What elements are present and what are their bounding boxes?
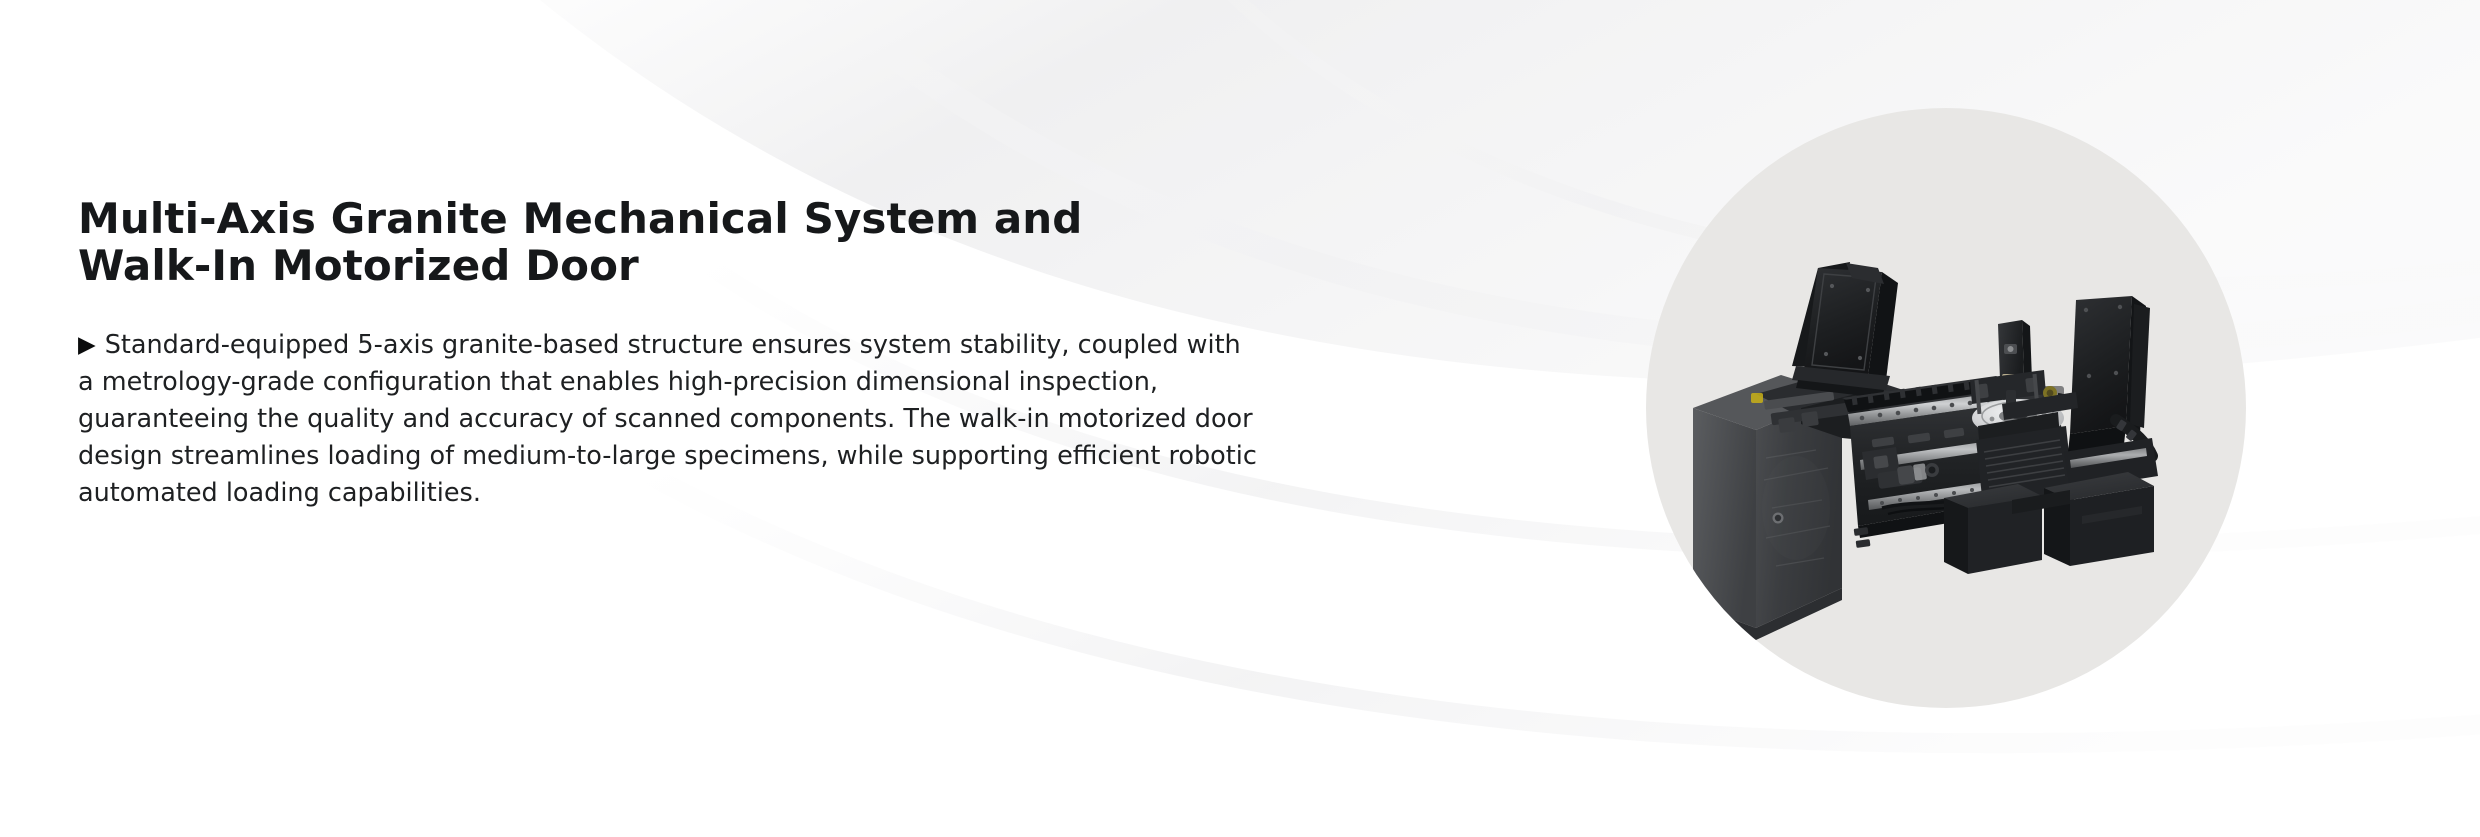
feature-description-text: Standard-equipped 5-axis granite-based s… (78, 330, 1257, 508)
feature-text-column: Multi-Axis Granite Mechanical System and… (78, 195, 1258, 512)
product-image-panel (1646, 108, 2246, 708)
triangle-bullet-icon: ▶ (78, 332, 96, 358)
feature-section: Multi-Axis Granite Mechanical System and… (0, 0, 2480, 837)
feature-description: ▶Standard-equipped 5-axis granite-based … (78, 327, 1258, 512)
granite-machine-photo (1646, 108, 2246, 708)
page-title: Multi-Axis Granite Mechanical System and… (78, 195, 1258, 289)
